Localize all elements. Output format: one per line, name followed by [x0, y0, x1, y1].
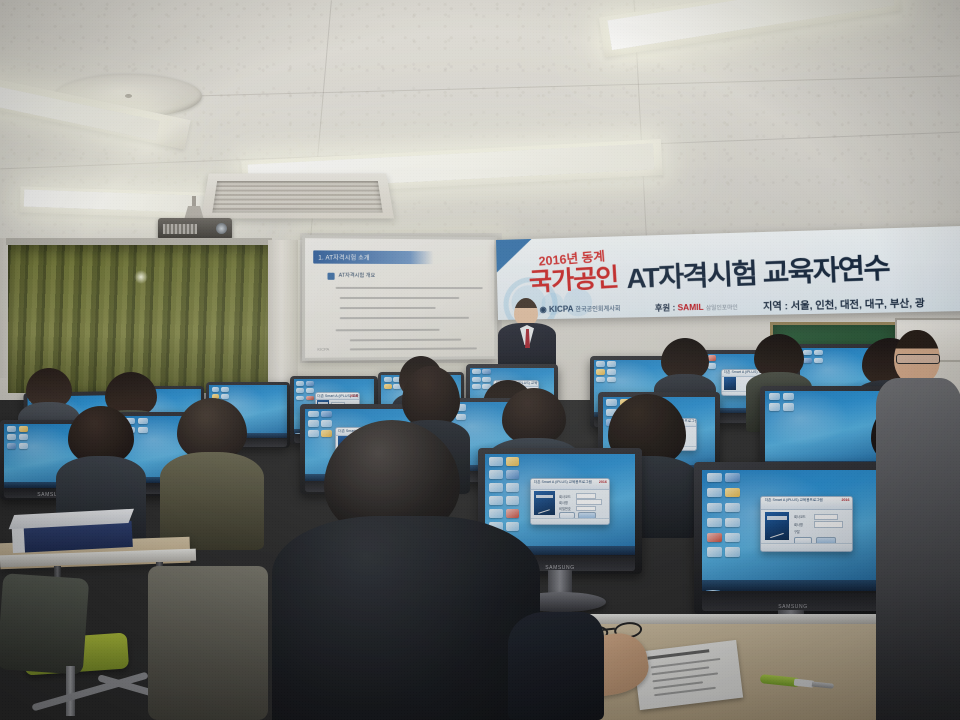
start-button-icon[interactable] — [706, 590, 721, 591]
banner-sponsor: 후원 : SAMIL 삼일인포마인 — [655, 301, 738, 314]
foreground-body — [272, 516, 540, 720]
event-banner: 2016년 동계 국가공인 AT자격시험 교육자연수 ◉ KICPA 한국공인회… — [496, 225, 960, 320]
chair-base-arm — [31, 672, 148, 712]
air-conditioner-vent — [201, 173, 394, 218]
dialog-version-badge: 2016 — [599, 480, 607, 484]
slide-bullet-icon — [327, 273, 334, 280]
dialog-input[interactable] — [814, 521, 843, 527]
dialog-statusbar — [531, 518, 609, 524]
classroom-photo-scene: 1. AT자격시험 소개 AT자격시험 개요 KICPA 2016년 동계 국가… — [0, 0, 960, 720]
dialog-version-badge: 2016 — [350, 394, 358, 398]
smart-a-dialog[interactable]: 더존 Smart A (iPLUS) 교육용프로그램 2016 회사코드 회사명… — [530, 478, 610, 524]
banner-region-line: 지역 : 서울, 인천, 대전, 대구, 부산, 광 — [763, 295, 925, 313]
monitor-front-2[interactable]: 더존 Smart A (iPLUS) 교육용프로그램 2016 회사코드 회사명… — [694, 462, 892, 614]
dialog-title: 더존 Smart A (iPLUS) 교육용프로그램 — [534, 480, 592, 485]
sponsor-kr: 삼일인포마인 — [706, 305, 738, 312]
banner-headline-dark: AT자격시험 교육자연수 — [625, 245, 889, 296]
glasses-icon — [896, 354, 940, 364]
foreground-sleeve — [508, 612, 604, 720]
dialog-input[interactable] — [814, 514, 838, 520]
chair-back-right — [148, 566, 268, 720]
dialog-input[interactable] — [576, 506, 595, 512]
organizer-kr: 한국공인회계사회 — [575, 306, 620, 313]
dialog-field-label: 회사명 — [559, 500, 568, 505]
chair-post — [66, 666, 75, 716]
banner-headline-red: 국가공인 — [528, 257, 619, 299]
slide-footer: KICPA — [317, 347, 329, 352]
dialog-title: 더존 Smart A (iPLUS) 교육용프로그램 — [765, 498, 823, 503]
attendee-head — [177, 398, 247, 460]
chair-back-left — [0, 573, 89, 675]
attendee-mid-2 — [160, 398, 264, 546]
presenter — [498, 298, 558, 368]
foreground-attendee — [272, 420, 540, 720]
presenter-head — [514, 298, 538, 326]
dialog-titlebar: 더존 Smart A (iPLUS) 교육용프로그램 2016 — [531, 479, 609, 490]
presentation-slide: 1. AT자격시험 소개 AT자격시험 개요 KICPA — [305, 238, 494, 358]
dialog-field-label: 구분 — [794, 529, 800, 534]
dialog-field-label: 회사코드 — [559, 494, 571, 499]
dialog-version-badge: 2016 — [842, 498, 850, 502]
smart-a-dialog[interactable]: 더존 Smart A (iPLUS) 교육용프로그램 2016 회사코드 회사명… — [760, 496, 853, 552]
slide-bullet-heading: AT자격시험 개요 — [339, 272, 376, 279]
dialog-input[interactable] — [576, 499, 602, 505]
attendee-head — [402, 366, 460, 428]
standing-observer — [876, 330, 960, 720]
wall-pillar — [268, 240, 298, 390]
slide-title-bar: 1. AT자격시험 소개 — [313, 250, 433, 264]
slide-title: 1. AT자격시험 소개 — [318, 252, 369, 261]
sponsor-label: 후원 : — [655, 303, 676, 313]
attendee-body — [160, 452, 264, 550]
dialog-field-label: 회사코드 — [794, 514, 806, 519]
dialog-input[interactable] — [576, 493, 595, 499]
blue-white-box — [11, 509, 133, 555]
sponsor-name: SAMIL — [677, 303, 703, 313]
projection-screen: 1. AT자격시험 소개 AT자격시험 개요 KICPA — [302, 235, 497, 361]
dialog-field-label: 회사명 — [794, 522, 803, 527]
dialog-field-label: 비밀번호 — [559, 506, 571, 511]
observer-body — [876, 378, 960, 720]
